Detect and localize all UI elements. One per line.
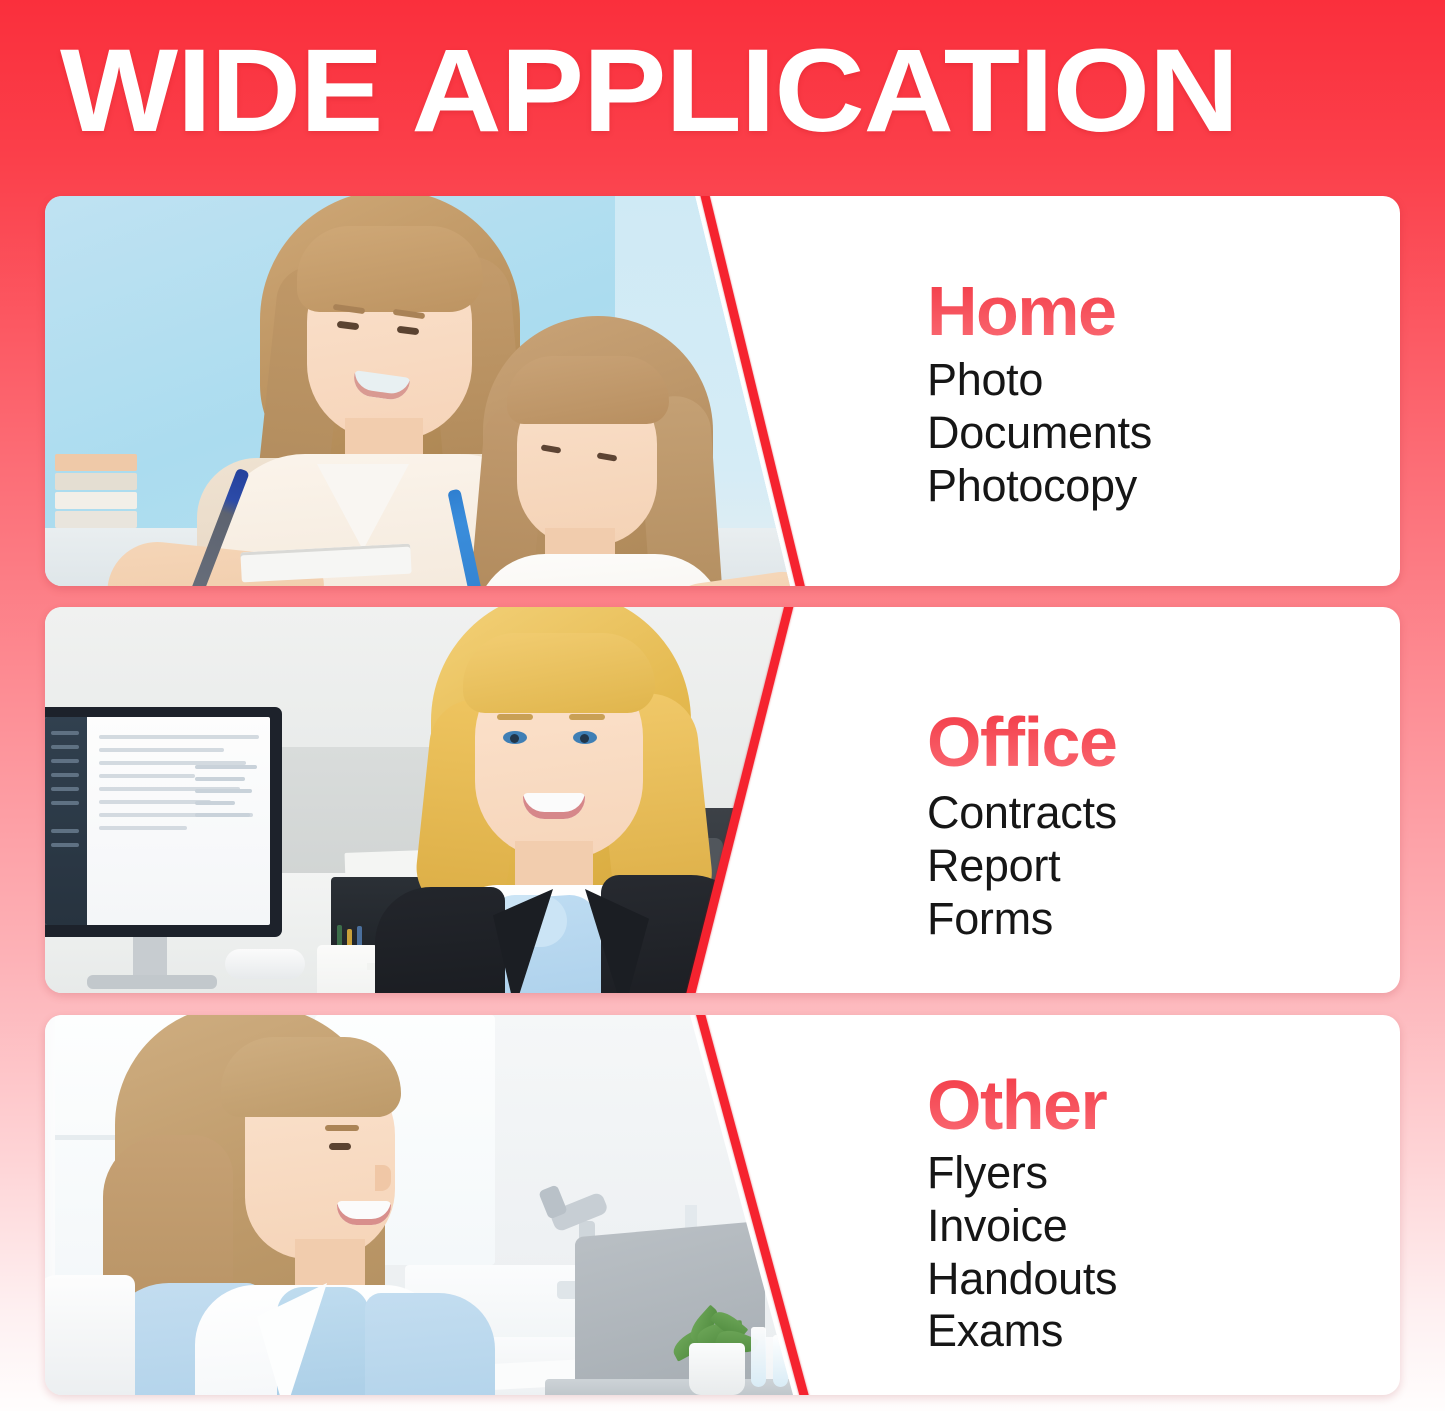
scene-home-tutoring <box>45 196 845 586</box>
list-item: Photocopy <box>927 459 1400 512</box>
header-banner: WIDE APPLICATION <box>0 0 1445 170</box>
office-woman-smile <box>523 793 585 819</box>
lab-woman-eyebrow <box>325 1125 359 1131</box>
list-item: Invoice <box>927 1200 1400 1253</box>
office-woman-eye-left <box>503 731 527 744</box>
card-item-list-other: Flyers Invoice Handouts Exams <box>927 1147 1400 1358</box>
card-text-other: Other Flyers Invoice Handouts Exams <box>855 1015 1400 1395</box>
list-item: Handouts <box>927 1253 1400 1306</box>
card-photo-other <box>45 1015 845 1395</box>
girl-bangs <box>507 356 669 424</box>
card-heading-home: Home <box>927 276 1400 347</box>
lab-woman-eye <box>329 1143 351 1150</box>
card-photo-home <box>45 196 845 586</box>
blazer-left <box>375 887 505 993</box>
test-tube <box>773 1335 788 1387</box>
app-sidebar <box>45 717 87 925</box>
wide-application-infographic: WIDE APPLICATION <box>0 0 1445 1411</box>
lab-chair <box>45 1275 135 1395</box>
card-text-home: Home Photo Documents Photocopy <box>855 196 1400 586</box>
office-woman-bangs <box>463 633 655 713</box>
app-content-column <box>195 765 257 825</box>
office-woman-eyebrow-right <box>569 714 605 720</box>
lab-woman-nose <box>375 1165 391 1191</box>
scene-office-desk <box>45 607 845 993</box>
monitor-screen <box>45 717 270 925</box>
list-item: Documents <box>927 406 1400 459</box>
office-woman-eyebrow-left <box>497 714 533 720</box>
list-item: Report <box>927 839 1400 892</box>
plant-pot <box>689 1343 745 1395</box>
lab-woman-bangs <box>221 1037 401 1117</box>
blue-cardigan-right <box>365 1293 495 1395</box>
monitor-base <box>87 975 217 989</box>
card-item-list-office: Contracts Report Forms <box>927 786 1400 945</box>
monitor-stand <box>133 937 167 979</box>
list-item: Photo <box>927 353 1400 406</box>
card-photo-office <box>45 607 845 993</box>
application-card-office[interactable]: Office Contracts Report Forms <box>45 607 1400 993</box>
list-item: Flyers <box>927 1147 1400 1200</box>
card-heading-office: Office <box>927 707 1400 778</box>
application-card-home[interactable]: Home Photo Documents Photocopy <box>45 196 1400 586</box>
office-woman-eye-right <box>573 731 597 744</box>
list-item: Contracts <box>927 786 1400 839</box>
woman-bangs <box>297 226 483 312</box>
card-item-list-home: Photo Documents Photocopy <box>927 353 1400 512</box>
computer-mouse <box>225 949 305 979</box>
card-text-office: Office Contracts Report Forms <box>855 607 1400 993</box>
list-item: Forms <box>927 892 1400 945</box>
scene-laboratory <box>45 1015 845 1395</box>
book-stack <box>55 418 137 528</box>
list-item: Exams <box>927 1305 1400 1358</box>
test-tube <box>751 1327 766 1387</box>
coffee-mug <box>317 945 379 993</box>
card-heading-other: Other <box>927 1070 1400 1141</box>
page-title: WIDE APPLICATION <box>60 32 1238 150</box>
application-card-other[interactable]: Other Flyers Invoice Handouts Exams <box>45 1015 1400 1395</box>
